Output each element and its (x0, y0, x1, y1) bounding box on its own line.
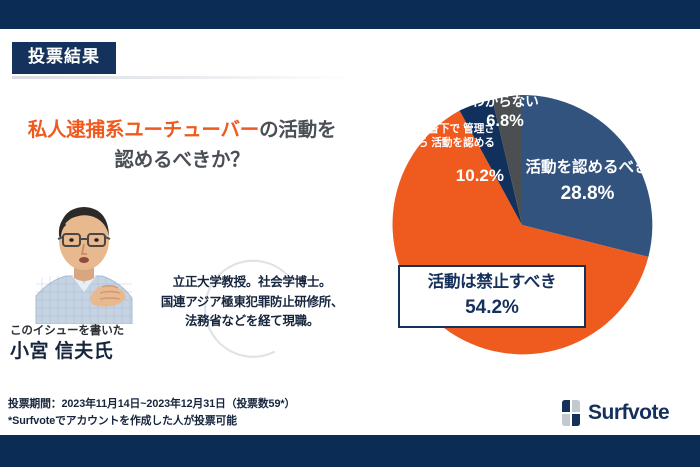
page-title-rest: の活動を (259, 119, 336, 141)
author-bio-line: 立正大学教授。社会学博士。 (146, 273, 358, 293)
footnotes: 投票期間：2023年11月14日~2023年12月31日（投票数59*） *Su… (8, 396, 438, 431)
section-badge: 投票結果 (12, 42, 116, 74)
page-title-accent: 私人逮捕系ユーチューバー (28, 119, 259, 141)
author-name: 小宮 信夫氏 (10, 336, 180, 363)
author-bio-line: 国連アジア極東犯罪防止研修所、 (146, 293, 358, 313)
pie-callout-label: 活動は禁止すべき (428, 273, 556, 293)
author-bio-line: 法務省などを経て現職。 (146, 312, 358, 332)
author-photo (32, 192, 136, 324)
bottom-navy-bar (0, 435, 700, 467)
author-bio: 立正大学教授。社会学博士。 国連アジア極東犯罪防止研修所、 法務省などを経て現職… (146, 273, 358, 332)
author-photo-illustration (32, 192, 136, 324)
pie-callout-prohibit: 活動は禁止すべき 54.2% (398, 265, 586, 328)
top-navy-bar (0, 0, 700, 29)
surfvote-logo-wordmark: Surfvote (588, 401, 669, 425)
surfvote-quadrant-icon (560, 399, 582, 427)
surfvote-logo: Surfvote (560, 399, 669, 427)
badge-underline-rule (12, 76, 352, 79)
pie-callout-pct: 54.2% (465, 297, 519, 320)
page-title-line2: 認めるべきか？ (114, 149, 249, 171)
voting-period-note: 投票期間：2023年11月14日~2023年12月31日（投票数59*） (8, 396, 438, 413)
account-required-note: *Surfvoteでアカウントを作成した人が投票可能 (8, 413, 438, 430)
infographic-canvas: 投票結果 私人逮捕系ユーチューバーの活動を 認めるべきか？ (0, 0, 700, 467)
page-title: 私人逮捕系ユーチューバーの活動を 認めるべきか？ (6, 116, 358, 175)
surfvote-logo-mark (560, 399, 582, 427)
